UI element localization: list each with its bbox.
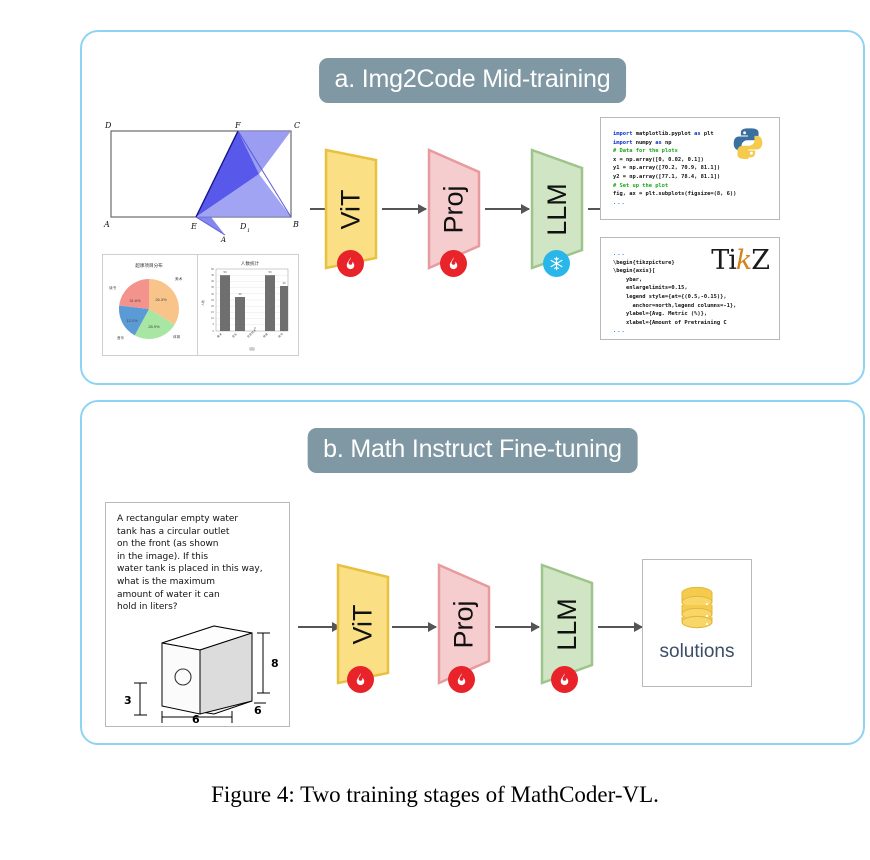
svg-text:50: 50: [211, 267, 214, 271]
svg-text:8: 8: [271, 657, 279, 670]
tikz-code-card: ... \begin{tikzpicture} \begin{axis}[ yb…: [600, 237, 780, 340]
svg-text:28.9%: 28.9%: [148, 324, 160, 329]
svg-text:E: E: [190, 222, 197, 231]
svg-text:15: 15: [211, 310, 214, 314]
flame-icon-llm-b: [551, 666, 578, 693]
svg-text:25: 25: [211, 298, 214, 302]
svg-text:40: 40: [211, 279, 214, 283]
flame-icon-vit-a: [337, 250, 364, 277]
snowflake-icon-llm-a: [543, 250, 570, 277]
arrow-llm-to-solutions: [598, 626, 642, 628]
svg-text:A: A: [220, 236, 226, 242]
svg-text:音乐: 音乐: [117, 335, 125, 340]
module-vit-a-label: ViT: [335, 189, 366, 229]
math-question-text: A rectangular empty water tank has a cir…: [117, 513, 285, 614]
svg-text:30: 30: [238, 292, 242, 296]
tikz-wordmark-suffix: Z: [751, 245, 769, 276]
math-question-card: A rectangular empty water tank has a cir…: [105, 502, 290, 727]
svg-text:10: 10: [211, 316, 214, 320]
svg-text:31.6%: 31.6%: [129, 298, 141, 303]
python-code-text: import matplotlib.pyplot as plt import n…: [613, 130, 736, 207]
water-tank-diagram: 8 6 3 6: [114, 611, 286, 723]
svg-text:体育: 体育: [173, 334, 181, 339]
svg-text:6: 6: [254, 704, 262, 717]
panel-img2code-midtraining: a. Img2Code Mid-training D F C A E D 1 B: [80, 30, 865, 385]
svg-text:美术: 美术: [216, 332, 223, 339]
svg-text:1: 1: [247, 228, 250, 234]
panel-b-title: b. Math Instruct Fine-tuning: [307, 428, 638, 473]
svg-text:50: 50: [268, 270, 272, 274]
python-logo: [731, 126, 765, 160]
panel-math-instruct-finetuning: b. Math Instruct Fine-tuning A rectangul…: [80, 400, 865, 745]
module-llm-b-label: LLM: [552, 598, 583, 651]
svg-text:读书: 读书: [109, 285, 117, 290]
svg-text:26.3%: 26.3%: [155, 297, 167, 302]
svg-text:40: 40: [282, 281, 286, 285]
svg-text:6: 6: [192, 713, 200, 723]
database-icon: [674, 584, 720, 637]
svg-text:人数: 人数: [201, 300, 205, 306]
svg-text:体育: 体育: [262, 332, 269, 339]
svg-text:3: 3: [124, 694, 132, 707]
tikz-wordmark-prefix: Ti: [711, 245, 736, 276]
svg-text:50: 50: [223, 270, 227, 274]
module-vit-b-label: ViT: [347, 604, 378, 644]
python-code-card: import matplotlib.pyplot as plt import n…: [600, 117, 780, 220]
svg-text:D: D: [104, 121, 112, 130]
svg-text:F: F: [234, 121, 241, 130]
arrow-vit-to-proj-a: [382, 208, 426, 210]
pie-chart-thumb: 超课项目分布 26.3% 28.9% 13.2% 31.6% 美术 读书 音乐 …: [102, 254, 199, 356]
svg-text:13.2%: 13.2%: [126, 318, 138, 323]
svg-text:0: 0: [213, 329, 215, 333]
panel-a-title: a. Img2Code Mid-training: [319, 58, 627, 103]
svg-text:读书: 读书: [277, 332, 284, 339]
module-llm-a-label: LLM: [542, 183, 573, 236]
tikz-wordmark-mid: k: [736, 245, 751, 276]
svg-text:信息技术: 信息技术: [246, 328, 257, 339]
module-proj-b-label: Proj: [448, 600, 479, 648]
svg-text:人数统计: 人数统计: [241, 260, 260, 267]
module-proj-a-label: Proj: [438, 185, 469, 233]
svg-text:5: 5: [213, 322, 215, 326]
flame-icon-proj-b: [448, 666, 475, 693]
svg-text:美术: 美术: [175, 276, 183, 281]
figure-caption: Figure 4: Two training stages of MathCod…: [0, 782, 870, 808]
svg-text:音乐: 音乐: [231, 332, 238, 339]
flame-icon-vit-b: [347, 666, 374, 693]
svg-text:35: 35: [211, 285, 214, 289]
flame-icon-proj-a: [440, 250, 467, 277]
solutions-card: solutions: [642, 559, 752, 687]
arrow-proj-to-llm-b: [495, 626, 539, 628]
arrow-proj-to-llm-a: [485, 208, 529, 210]
solutions-label: solutions: [660, 641, 735, 663]
tikz-wordmark: TikZ: [711, 245, 769, 276]
svg-text:D: D: [239, 222, 247, 231]
svg-text:C: C: [294, 121, 300, 130]
svg-text:B: B: [292, 220, 299, 229]
svg-text:20: 20: [211, 304, 214, 308]
bar-chart-thumb: 人数统计 50 30 0: [197, 254, 299, 356]
svg-text:45: 45: [211, 273, 214, 277]
svg-text:30: 30: [211, 292, 214, 296]
svg-text:超课项目分布: 超课项目分布: [135, 262, 163, 269]
arrow-vit-to-proj-b: [392, 626, 436, 628]
geometry-figure: D F C A E D 1 B A: [99, 117, 304, 242]
svg-text:项目: 项目: [249, 347, 255, 351]
svg-text:A: A: [103, 220, 110, 229]
